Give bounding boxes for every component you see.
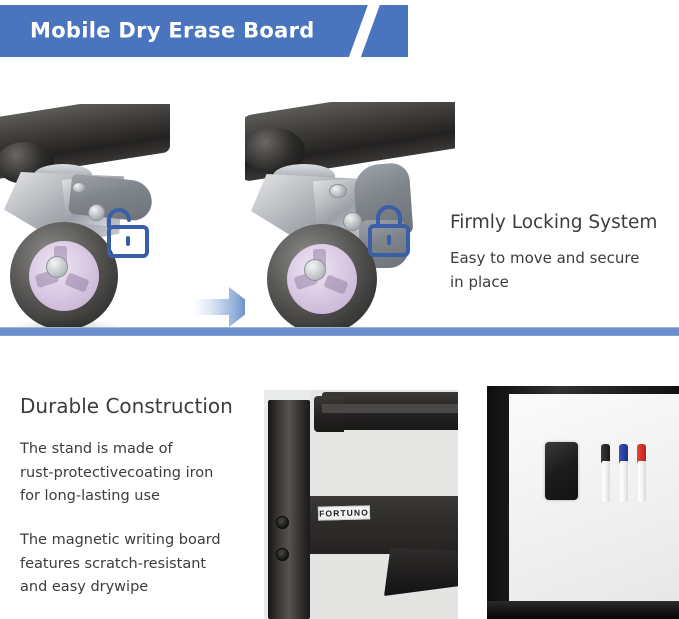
durable-p2-line-3: and easy drywipe — [20, 576, 265, 600]
durable-p2-line-2: features scratch-resistant — [20, 553, 265, 577]
durable-paragraph-1: The stand is made of rust-protectivecoat… — [20, 438, 265, 509]
dry-erase-eraser-icon — [545, 442, 578, 500]
locking-body-line-2: in place — [450, 270, 679, 294]
durable-paragraph-2: The magnetic writing board features scra… — [20, 529, 265, 600]
locking-system-text: Firmly Locking System Easy to move and s… — [450, 212, 679, 295]
page-title: Mobile Dry Erase Board — [30, 19, 315, 43]
locking-system-heading: Firmly Locking System — [450, 212, 679, 233]
whiteboard-surface — [509, 394, 679, 602]
header-banner: Mobile Dry Erase Board — [0, 5, 408, 57]
whiteboard-surface-photo — [487, 386, 679, 619]
infographic-page: Mobile Dry Erase Board — [0, 0, 679, 619]
durable-p1-line-2: rust-protectivecoating iron — [20, 462, 265, 486]
section-divider — [0, 327, 679, 336]
locking-system-body: Easy to move and secure in place — [450, 246, 679, 295]
durable-construction-section: Durable Construction The stand is made o… — [0, 336, 679, 619]
whiteboard-bottom-frame — [487, 601, 679, 619]
unlocked-padlock-icon — [100, 205, 156, 266]
durable-construction-heading: Durable Construction — [20, 394, 265, 418]
brand-label-text: FORTUNO — [319, 507, 369, 518]
durable-construction-text: Durable Construction The stand is made o… — [20, 394, 265, 600]
black-marker — [601, 444, 610, 502]
red-marker — [637, 444, 646, 502]
locking-body-line-1: Easy to move and secure — [450, 246, 679, 270]
stand-frame-closeup-photo: FORTUNO — [264, 390, 458, 619]
durable-p1-line-3: for long-lasting use — [20, 485, 265, 509]
blue-marker — [619, 444, 628, 502]
stand-post — [268, 400, 310, 619]
locked-padlock-icon — [361, 202, 417, 265]
caster-wheel-locked-photo — [245, 102, 455, 334]
locking-system-section: Firmly Locking System Easy to move and s… — [0, 62, 679, 328]
brand-label: FORTUNO — [318, 505, 370, 520]
durable-p1-line-1: The stand is made of — [20, 438, 265, 462]
diagonal-slash-icon — [346, 5, 382, 57]
durable-p2-line-1: The magnetic writing board — [20, 529, 265, 553]
